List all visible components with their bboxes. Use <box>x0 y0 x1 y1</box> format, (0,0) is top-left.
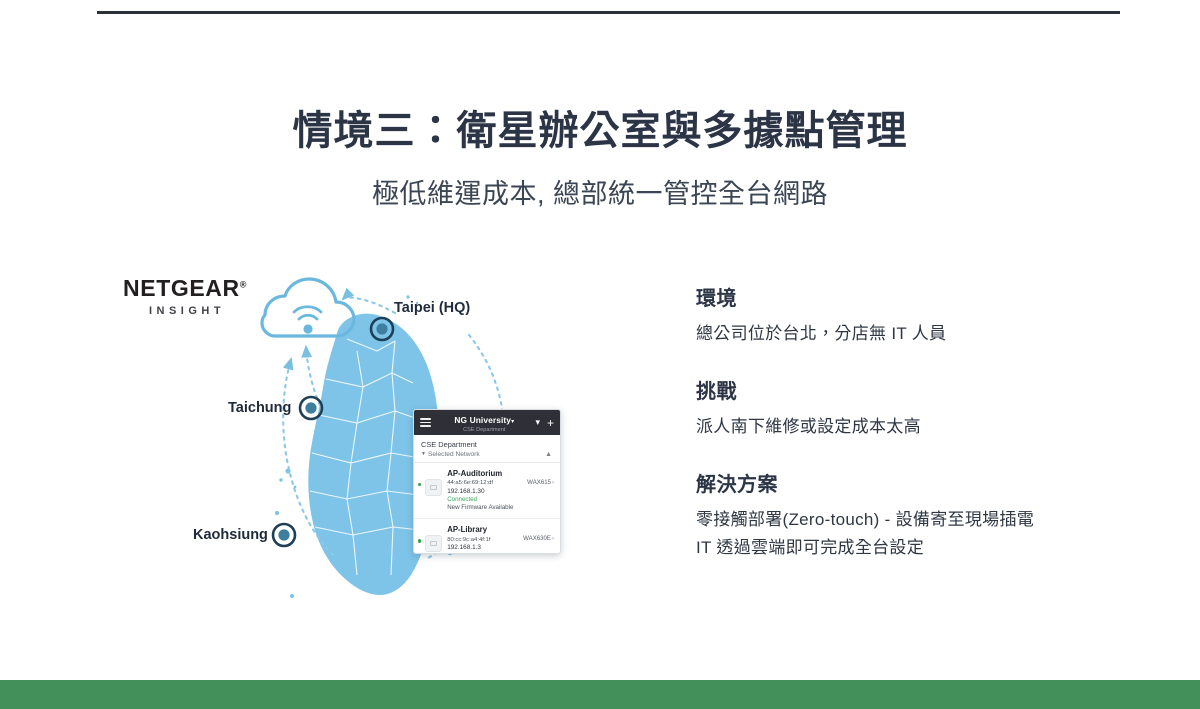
chevron-down-icon: ▾ <box>511 419 514 425</box>
scenario-details-column: 環境 總公司位於台北，分店無 IT 人員 挑戰 派人南下維修或設定成本太高 解決… <box>696 282 1116 561</box>
device-info: AP-Auditorium 44:a5:6e:69:12:df 192.168.… <box>447 469 525 513</box>
info-text-solution-line-2: IT 透過雲端即可完成全台設定 <box>696 534 1116 561</box>
device-list-item[interactable]: AP-Auditorium 44:a5:6e:69:12:df 192.168.… <box>414 463 560 520</box>
network-topology-illustration: NETGEAR® INSIGHT Taipei (HQ) Taichung Ka… <box>95 255 655 625</box>
plus-icon[interactable]: + <box>547 417 554 429</box>
info-block-solution: 解決方案 零接觸部署(Zero-touch) - 設備寄至現場插電 IT 透過雲… <box>696 468 1116 560</box>
hamburger-menu-icon[interactable] <box>420 418 431 427</box>
access-point-thumbnail-icon <box>425 535 442 552</box>
info-heading-challenge: 挑戰 <box>696 375 1116 404</box>
device-ip-address: 192.168.1.30 <box>447 488 525 496</box>
triangle-down-icon: ▼ <box>421 451 426 457</box>
network-selector-subtitle-row: ▼ Selected Network <box>421 451 553 458</box>
device-model: WAX615 <box>527 479 551 486</box>
info-text-challenge: 派人南下維修或設定成本太高 <box>696 413 1116 440</box>
device-mac-address: 80:cc:9c:a4:4f:1f <box>447 537 521 545</box>
network-selector[interactable]: CSE Department ▼ Selected Network ▲ <box>414 435 560 463</box>
device-name: AP-Library <box>447 525 521 535</box>
device-model: WAX630E <box>523 535 551 542</box>
device-model-group: WAX630E› <box>521 535 554 542</box>
device-ip-address: 192.168.1.3 <box>447 544 521 552</box>
cloud-node-dot <box>303 324 312 333</box>
app-title-group: NG University▾ CSE Department <box>431 411 535 434</box>
info-text-environment: 總公司位於台北，分店無 IT 人員 <box>696 320 1116 347</box>
page-title: 情境三：衛星辦公室與多據點管理 <box>0 106 1200 156</box>
app-header-bar: NG University▾ CSE Department ▾ + <box>414 410 560 435</box>
info-block-challenge: 挑戰 派人南下維修或設定成本太高 <box>696 375 1116 440</box>
device-model-group: WAX615› <box>525 479 554 486</box>
brand-name-text: NETGEAR <box>123 275 240 301</box>
site-marker-kaohsiung <box>273 524 295 546</box>
device-info: AP-Library 80:cc:9c:a4:4f:1f 192.168.1.3… <box>447 525 521 554</box>
footer-bar <box>0 680 1200 709</box>
chevron-up-icon[interactable]: ▲ <box>545 451 552 458</box>
info-text-solution-line-1: 零接觸部署(Zero-touch) - 設備寄至現場插電 <box>696 506 1116 533</box>
top-divider-rule <box>97 11 1120 14</box>
title-block: 情境三：衛星辦公室與多據點管理 極低維運成本, 總部統一管控全台網路 <box>0 106 1200 211</box>
brand-product-line: INSIGHT <box>115 306 255 317</box>
device-list-item[interactable]: AP-Library 80:cc:9c:a4:4f:1f 192.168.1.3… <box>414 519 560 554</box>
network-selector-subtitle: Selected Network <box>428 451 480 458</box>
status-indicator-dot <box>418 483 421 486</box>
network-selector-title: CSE Department <box>421 440 553 449</box>
insight-app-panel: NG University▾ CSE Department ▾ + CSE De… <box>413 409 561 554</box>
device-firmware-note: New Firmware Available <box>447 504 525 512</box>
app-org-selector[interactable]: NG University▾ <box>433 411 535 428</box>
site-marker-taichung <box>300 397 322 419</box>
brand-name: NETGEAR® <box>123 277 247 300</box>
info-heading-environment: 環境 <box>696 282 1116 311</box>
app-department-name: CSE Department <box>433 428 535 434</box>
page-subtitle: 極低維運成本, 總部統一管控全台網路 <box>0 172 1200 211</box>
filter-icon[interactable]: ▾ <box>535 418 540 427</box>
access-point-thumbnail-icon <box>425 479 442 496</box>
device-status: Connected <box>447 553 521 554</box>
status-indicator-dot <box>418 539 421 542</box>
site-label-kaohsiung: Kaohsiung <box>193 527 268 543</box>
device-name: AP-Auditorium <box>447 469 525 479</box>
app-org-name: NG University <box>454 415 511 425</box>
registered-trademark-icon: ® <box>240 279 247 289</box>
site-label-taipei: Taipei (HQ) <box>394 300 470 316</box>
netgear-insight-logo: NETGEAR® INSIGHT <box>115 277 255 317</box>
app-header-actions: ▾ + <box>535 417 554 429</box>
site-label-taichung: Taichung <box>228 400 291 416</box>
info-heading-solution: 解決方案 <box>696 468 1116 497</box>
device-mac-address: 44:a5:6e:69:12:df <box>447 480 525 488</box>
device-status: Connected <box>447 496 525 504</box>
info-block-environment: 環境 總公司位於台北，分店無 IT 人員 <box>696 282 1116 347</box>
chevron-right-icon[interactable]: › <box>552 536 554 542</box>
chevron-right-icon[interactable]: › <box>552 480 554 486</box>
